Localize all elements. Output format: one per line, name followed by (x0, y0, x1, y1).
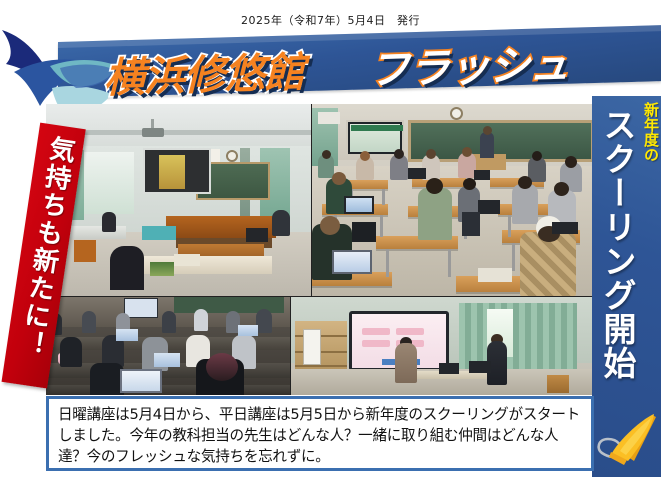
publication-date: 2025年（令和7年）5月4日 発行 (0, 12, 661, 28)
laptop (408, 168, 426, 179)
student-hair (206, 353, 238, 381)
slide-row (362, 328, 390, 335)
photo-monitor-room (291, 297, 594, 395)
teacher-head (483, 126, 492, 135)
student-head (462, 147, 472, 157)
laptop (474, 170, 490, 180)
desk-leg (448, 249, 451, 277)
projection-screen (124, 298, 158, 318)
laptop-screen (120, 369, 162, 393)
photo-collage (46, 104, 594, 395)
student-head (518, 176, 532, 189)
backpack (462, 212, 480, 236)
student (256, 309, 272, 333)
headline-panel: 新年度の スクーリング開始 (592, 96, 661, 477)
laptop-screen (154, 353, 180, 367)
ceiling (46, 104, 311, 146)
window (76, 152, 134, 214)
student-head (360, 151, 370, 161)
newsletter-page: 2025年（令和7年）5月4日 発行 横浜修悠館 フラッシュ (0, 0, 661, 477)
backpack (352, 222, 376, 242)
student-head (426, 178, 443, 194)
student-head (394, 149, 404, 159)
wall-clock (450, 107, 463, 120)
megaphone-icon (594, 409, 660, 471)
student-head (320, 216, 340, 235)
student (102, 212, 116, 232)
textbook (150, 262, 174, 276)
headline-main: スクーリング開始 (598, 108, 635, 380)
slide-row (396, 328, 424, 335)
teacher (480, 132, 494, 158)
air-conditioner (318, 112, 340, 124)
photo-science-classroom (46, 104, 311, 296)
student (512, 184, 538, 224)
person-standing (395, 343, 417, 383)
projection-screen (143, 148, 211, 194)
student-head (554, 182, 569, 196)
laptop (246, 228, 268, 242)
student (194, 309, 208, 331)
student (272, 210, 290, 236)
student-head (332, 172, 346, 185)
laptop (469, 361, 491, 373)
teal-cloth (142, 226, 176, 240)
headline-kicker: 新年度の (643, 102, 658, 162)
laptop-screen (346, 198, 372, 212)
laptop (478, 200, 500, 214)
laptop (552, 222, 578, 234)
desk-leg (380, 215, 383, 237)
student (90, 363, 124, 395)
slide-image (159, 155, 185, 189)
slide-header (351, 125, 403, 131)
photo-large-lecture-hall (46, 297, 290, 395)
projector (142, 128, 164, 137)
ceiling-beam (46, 130, 311, 135)
laptop (439, 363, 459, 374)
paper (174, 254, 200, 266)
desk-leg (382, 189, 385, 205)
student (60, 337, 82, 367)
whiteboard (303, 329, 321, 365)
desk-leg (386, 249, 389, 277)
slide-row (362, 340, 390, 347)
caption-box: 日曜講座は5月4日から、平日講座は5月5日から新年度のスクーリングがスタートしま… (46, 396, 594, 471)
student (82, 311, 96, 333)
caption-text: 日曜講座は5月4日から、平日講座は5月5日から新年度のスクーリングがスタートしま… (58, 404, 583, 467)
desk-row (46, 385, 290, 395)
student (162, 311, 176, 333)
desk-leg (508, 215, 511, 237)
student-head (322, 150, 331, 159)
student-head (532, 151, 542, 161)
photo-lecture-classroom (312, 104, 594, 296)
masthead-title-kana: フラッシュ (369, 39, 569, 95)
masthead-title-kanji: 横浜修悠館 (104, 47, 304, 103)
shelf-board (295, 365, 347, 367)
student-head (426, 149, 436, 159)
student-foreground (110, 246, 144, 290)
wall-clock (226, 150, 238, 162)
laptop-screen (116, 329, 138, 341)
masthead: 横浜修悠館 フラッシュ (0, 36, 661, 104)
tablet (332, 250, 372, 274)
desk-leg (512, 243, 515, 271)
chair (547, 375, 569, 393)
student-head (565, 156, 577, 168)
student (418, 188, 452, 240)
chair (74, 240, 96, 262)
notebook (478, 268, 512, 282)
laptop-screen (238, 325, 258, 336)
